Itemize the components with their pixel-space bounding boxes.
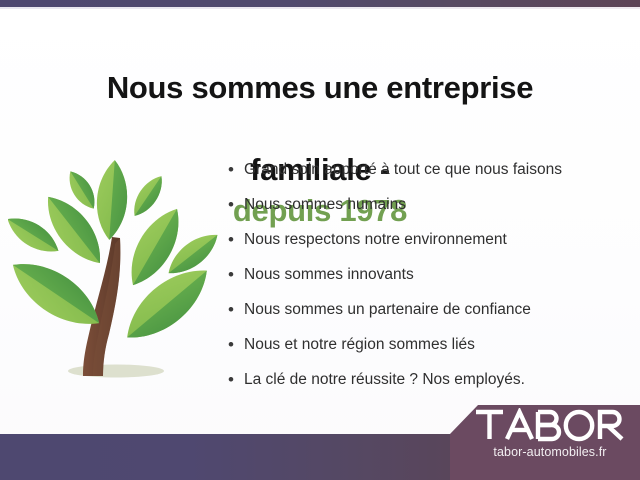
top-accent-bar <box>0 0 640 7</box>
list-item: • La clé de notre réussite ? Nos employé… <box>228 362 628 397</box>
bullet-icon: • <box>228 161 244 178</box>
list-item: • Nous sommes un partenaire de confiance <box>228 292 628 327</box>
logo-panel <box>440 400 640 480</box>
slide-canvas: Nous sommes une entreprise familiale - d… <box>0 0 640 480</box>
bullet-icon: • <box>228 371 244 388</box>
bullet-icon: • <box>228 336 244 353</box>
list-item-label: Nous respectons notre environnement <box>244 230 507 250</box>
list-item: • Nous sommes humains <box>228 187 628 222</box>
headline-line-1: Nous sommes une entreprise <box>107 70 533 105</box>
list-item: • Nous et notre région sommes liés <box>228 327 628 362</box>
leaf-top-center <box>94 159 130 241</box>
leaf-upper-right-small <box>127 171 169 221</box>
list-item-label: Nous et notre région sommes liés <box>244 335 475 355</box>
tree-illustration <box>8 152 228 392</box>
footer-bar <box>0 434 470 480</box>
bullet-icon: • <box>228 231 244 248</box>
top-accent-underline <box>0 7 640 9</box>
tree-graphic <box>8 152 228 392</box>
list-item: • Grand soin apporté à tout ce que nous … <box>228 152 628 187</box>
values-list: • Grand soin apporté à tout ce que nous … <box>228 152 628 397</box>
bullet-icon: • <box>228 301 244 318</box>
list-item: • Nous respectons notre environnement <box>228 222 628 257</box>
list-item: • Nous sommes innovants <box>228 257 628 292</box>
leaf-lower-right-large <box>115 256 220 353</box>
list-item-label: Nous sommes humains <box>244 195 406 215</box>
logo-panel-shape <box>440 400 640 480</box>
bullet-icon: • <box>228 266 244 283</box>
list-item-label: Grand soin apporté à tout ce que nous fa… <box>244 160 562 180</box>
list-item-label: La clé de notre réussite ? Nos employés. <box>244 370 525 390</box>
tree-shadow <box>68 365 164 378</box>
bullet-icon: • <box>228 196 244 213</box>
list-item-label: Nous sommes innovants <box>244 265 414 285</box>
list-item-label: Nous sommes un partenaire de confiance <box>244 300 531 320</box>
